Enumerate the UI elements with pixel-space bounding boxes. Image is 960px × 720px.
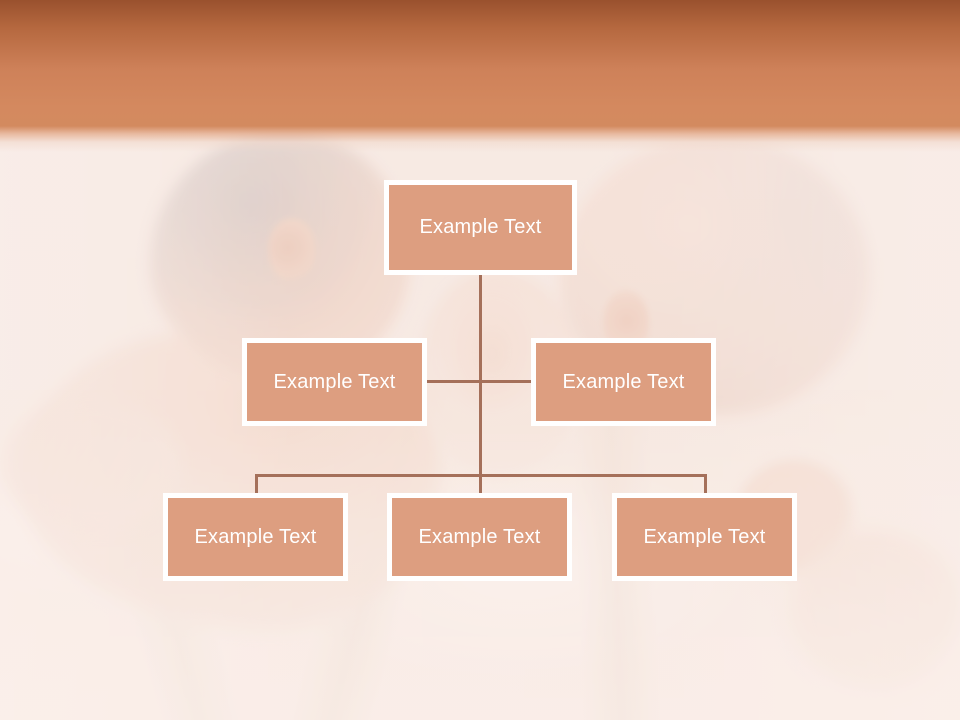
org-node-mid-right[interactable]: Example Text	[531, 338, 716, 426]
connector-level2-horizontal	[427, 380, 531, 383]
org-node-root[interactable]: Example Text	[384, 180, 577, 275]
title-banner	[0, 0, 960, 126]
org-node-mid-left[interactable]: Example Text	[242, 338, 427, 426]
connector-root-spine	[479, 275, 482, 493]
org-node-leaf-left[interactable]: Example Text	[163, 493, 348, 581]
org-node-leaf-center-label: Example Text	[418, 526, 540, 549]
org-node-mid-left-label: Example Text	[273, 371, 395, 394]
org-node-leaf-right-label: Example Text	[643, 526, 765, 549]
org-node-mid-right-label: Example Text	[562, 371, 684, 394]
title-banner-fade	[0, 126, 960, 152]
org-node-root-label: Example Text	[419, 216, 541, 239]
org-node-leaf-right[interactable]: Example Text	[612, 493, 797, 581]
org-node-leaf-center[interactable]: Example Text	[387, 493, 572, 581]
org-node-leaf-left-label: Example Text	[194, 526, 316, 549]
connector-level3-bar	[255, 474, 707, 477]
slide: Org Chart / Hierarchy – Your Title Text …	[0, 0, 960, 720]
